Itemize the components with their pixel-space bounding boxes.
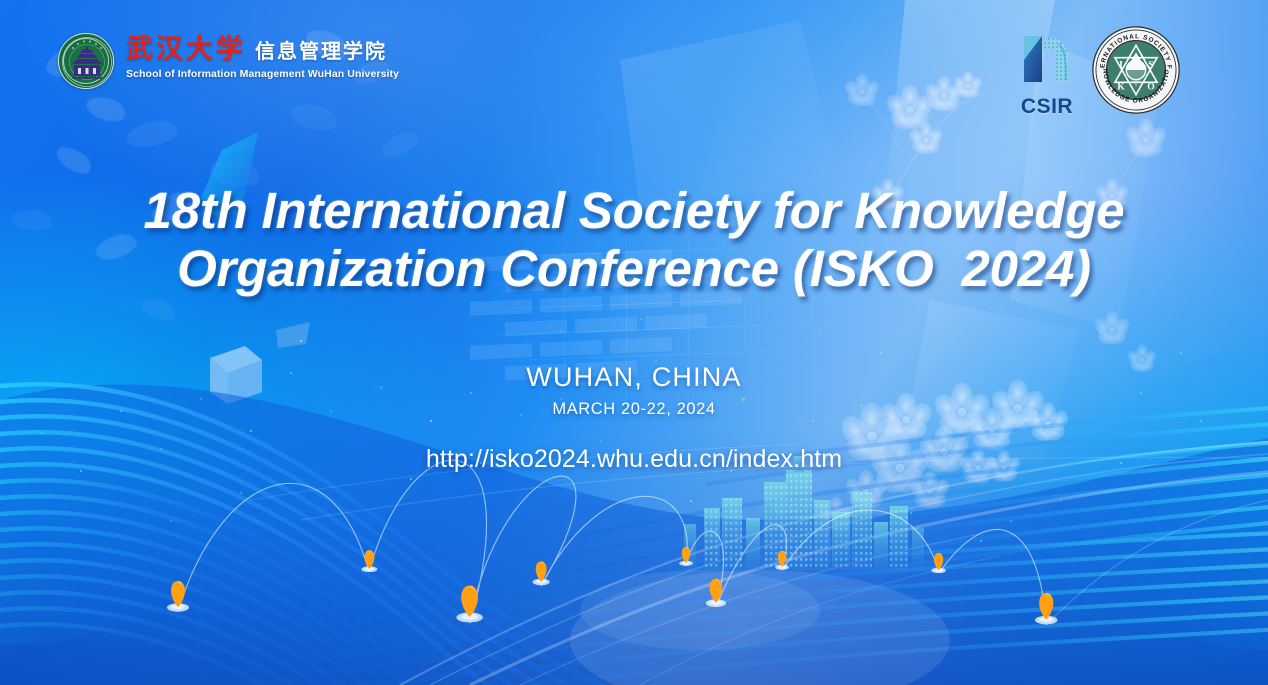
csir-logo[interactable]: CSIR	[1012, 30, 1082, 119]
csir-mark-icon	[1012, 30, 1082, 88]
whu-name-chinese-red: 武汉大学	[126, 36, 246, 63]
conference-dates: MARCH 20-22, 2024	[0, 400, 1268, 419]
isko-seal-icon: I S K O INTERNATIONAL SOCIETY FOR KNOWLE…	[1092, 26, 1180, 114]
svg-text:O: O	[1147, 81, 1155, 92]
svg-text:I: I	[1119, 59, 1123, 70]
page-title: 18th International Society for Knowledge…	[0, 182, 1268, 298]
title-line-2: Organization Conference (ISKO 2024)	[0, 240, 1268, 298]
whu-seal-icon	[58, 33, 114, 89]
svg-text:S: S	[1148, 59, 1153, 70]
svg-text:K: K	[1117, 81, 1125, 92]
conference-banner: 武汉大学 信息管理学院 School of Information Manage…	[0, 0, 1268, 685]
title-line-1: 18th International Society for Knowledge	[0, 182, 1268, 240]
isko-logo[interactable]: I S K O INTERNATIONAL SOCIETY FOR KNOWLE…	[1092, 26, 1180, 114]
whu-logo[interactable]: 武汉大学 信息管理学院 School of Information Manage…	[58, 33, 399, 89]
conference-location: WUHAN, CHINA	[0, 362, 1268, 393]
whu-school-chinese: 信息管理学院	[255, 41, 387, 61]
whu-name-english: School of Information Management WuHan U…	[126, 68, 399, 80]
conference-url[interactable]: http://isko2024.whu.edu.cn/index.htm	[0, 445, 1268, 474]
csir-wordmark: CSIR	[1012, 95, 1082, 119]
